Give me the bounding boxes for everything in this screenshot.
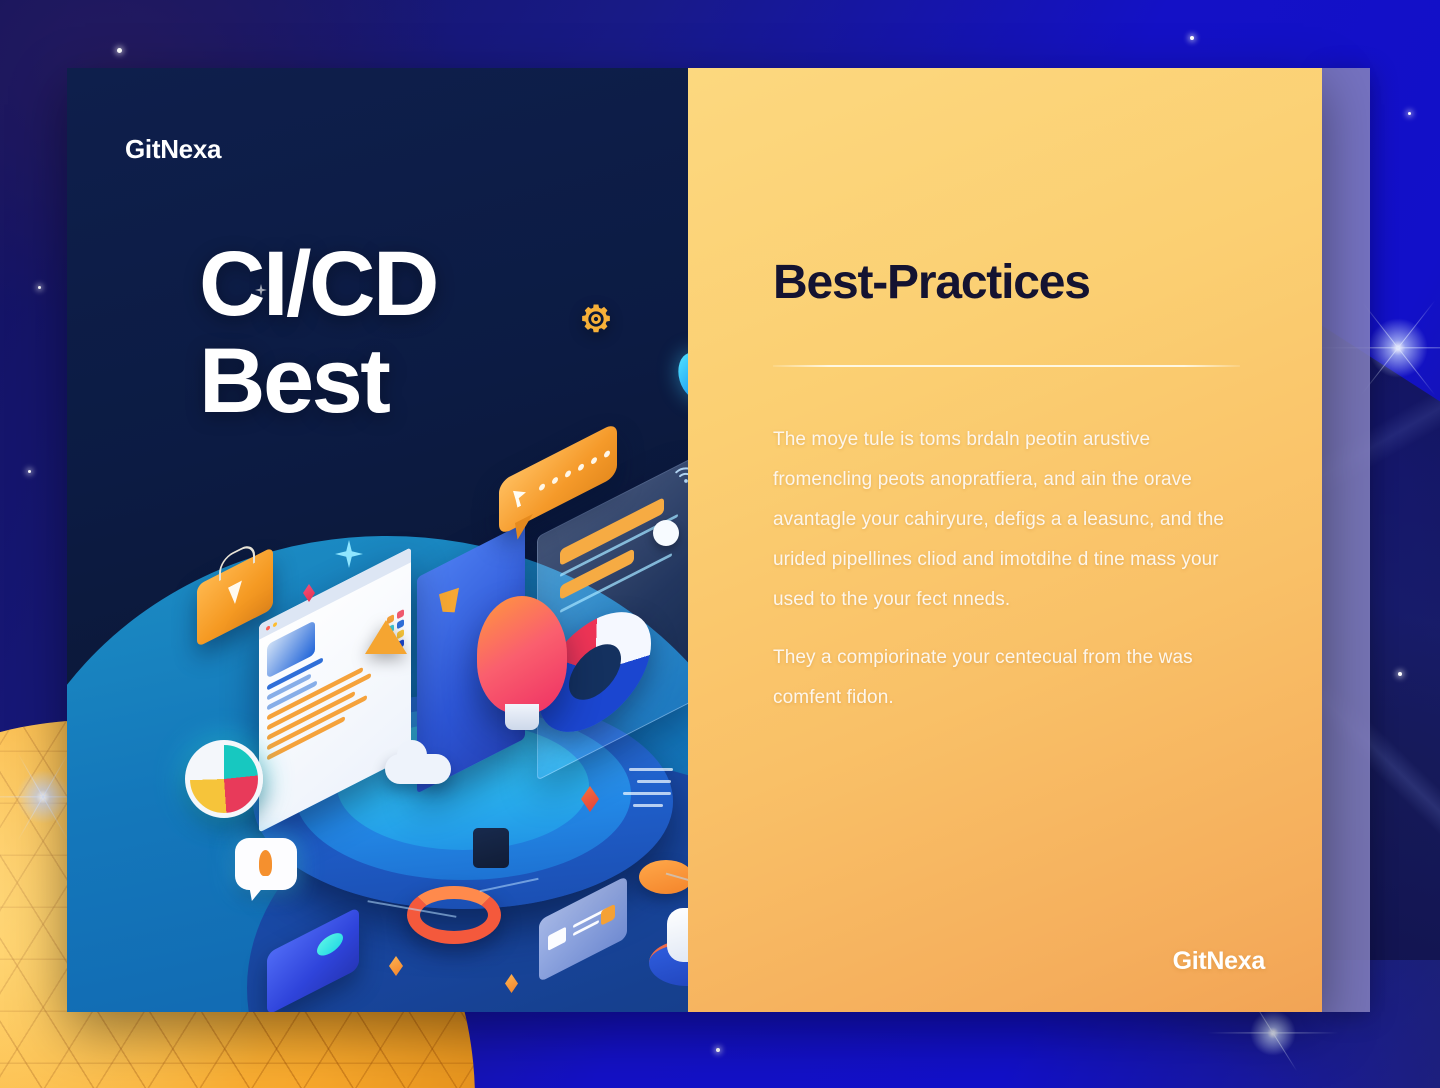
brand-logo-top: GitNexa: [125, 134, 221, 165]
star-dot: [117, 48, 122, 53]
pie-chart-badge: [185, 740, 263, 818]
cloud-icon: [385, 754, 451, 784]
title-line-2: Best: [199, 333, 437, 430]
title-line-1: CI/CD: [199, 236, 437, 333]
database-cylinder-icon: [473, 828, 509, 868]
star-dot: [1190, 36, 1194, 40]
dot: [604, 450, 610, 459]
dot: [552, 476, 558, 485]
star-dot: [28, 470, 31, 473]
star-dot: [716, 1048, 720, 1052]
slide-card: GitNexa CI/CD Best Best-Practices The mo…: [67, 68, 1322, 1012]
capsule-podium-top: [667, 908, 688, 962]
star-dot: [38, 286, 41, 289]
dot: [578, 463, 584, 472]
body-copy: The moye tule is toms brdaln peotin arus…: [773, 420, 1251, 718]
card-chip: [548, 927, 566, 951]
data-tick-line: [629, 768, 673, 771]
brand-logo-footer: GitNexa: [1173, 947, 1265, 976]
blue-coin-shape: [673, 348, 688, 403]
data-tick-line: [623, 792, 671, 795]
swatch: [397, 609, 404, 620]
typing-dots: [539, 450, 610, 492]
body-paragraph-2: They a compiorinate your centecual from …: [773, 638, 1251, 718]
rocket-icon: [259, 850, 272, 876]
lightning-mark-icon: [439, 584, 459, 620]
dot: [565, 469, 571, 478]
slide-shadow-panel: [1322, 68, 1370, 1012]
lightbulb-icon: [477, 596, 567, 714]
dot: [591, 456, 597, 465]
star-flare-bottom-right: [1250, 1010, 1296, 1056]
lightbulb-base: [505, 704, 539, 730]
gear-icon: [579, 302, 613, 336]
warning-triangle-icon: [365, 620, 407, 654]
slide-left-pane: GitNexa CI/CD Best: [67, 68, 688, 1012]
slide-background: GitNexa CI/CD Best Best-Practices The mo…: [0, 0, 1440, 1088]
data-tick-line: [633, 804, 663, 807]
panel-avatar-icon: [653, 520, 679, 546]
heading-divider: [773, 365, 1240, 367]
rocket-speech-bubble: [235, 838, 297, 890]
data-tick-line: [637, 780, 671, 783]
slide-title: CI/CD Best: [199, 236, 437, 430]
page-title: Best-Practices: [773, 255, 1090, 310]
star-dot: [1398, 672, 1402, 676]
cursor-icon: [513, 484, 526, 510]
dot: [539, 483, 545, 492]
card-badge: [601, 904, 615, 926]
wifi-icon: [673, 464, 688, 486]
window-close-dot: [266, 625, 270, 631]
body-paragraph-1: The moye tule is toms brdaln peotin arus…: [773, 420, 1251, 620]
window-minimize-dot: [273, 621, 277, 627]
devops-illustration: [67, 68, 688, 1012]
star-dot: [1408, 112, 1411, 115]
slide-right-pane: Best-Practices The moye tule is toms brd…: [688, 68, 1322, 1012]
